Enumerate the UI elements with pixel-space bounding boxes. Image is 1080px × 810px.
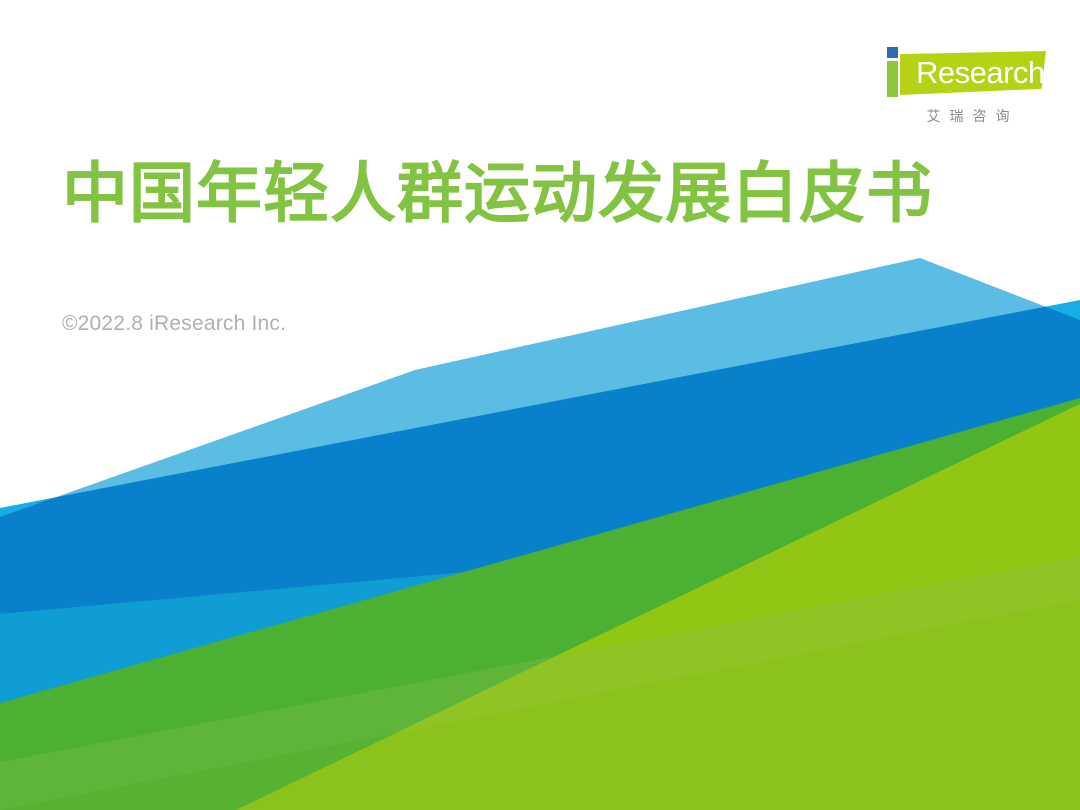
copyright-line: ©2022.8 iResearch Inc. [62, 312, 286, 336]
logo-chinese-name: 艾瑞咨询 [890, 106, 1046, 126]
logo-i-stem-icon [887, 61, 898, 97]
logo-wordmark: Research [916, 52, 1044, 94]
title-block: 中国年轻人群运动发展白皮书 [62, 158, 962, 229]
iresearch-logo: Research 艾瑞咨询 [878, 42, 1046, 134]
logo-mark: Research [878, 42, 1046, 104]
logo-i-dot-icon [887, 47, 898, 58]
page-title: 中国年轻人群运动发展白皮书 [62, 158, 962, 229]
cover-slide: Research 艾瑞咨询 中国年轻人群运动发展白皮书 ©2022.8 iRes… [0, 0, 1080, 810]
